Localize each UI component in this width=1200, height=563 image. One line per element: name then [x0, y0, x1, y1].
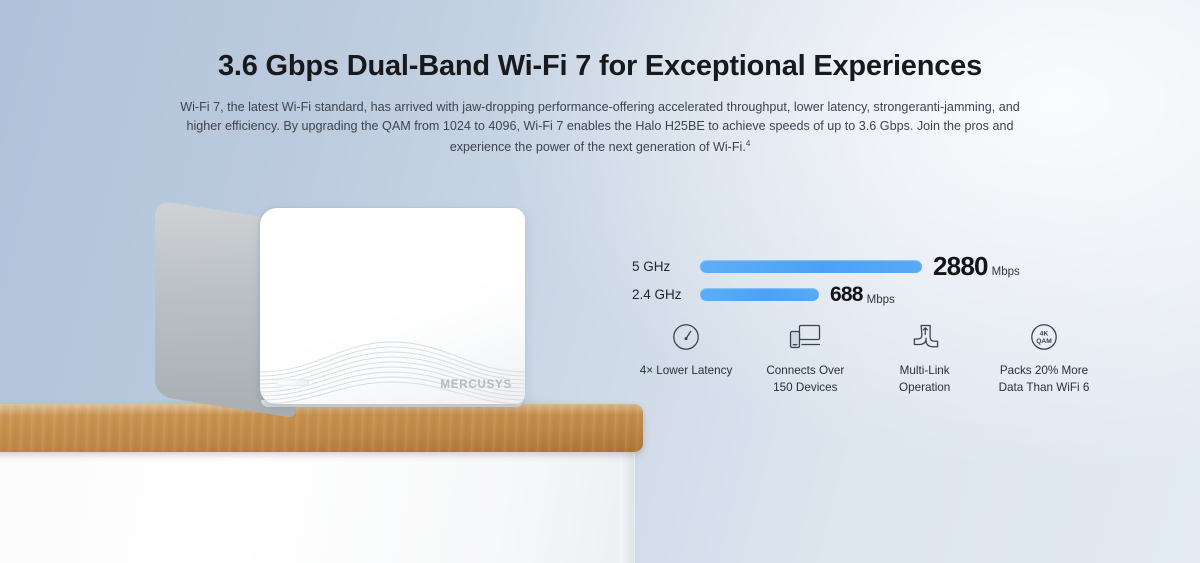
qam-4k-icon: 4K QAM	[988, 320, 1100, 354]
bar-track-24ghz	[700, 288, 819, 301]
band-label-24ghz: 2.4 GHz	[632, 287, 700, 302]
feature-line2: Operation	[899, 381, 950, 394]
speed-chart: 5 GHz 2880 Mbps 2.4 GHz 688 Mbps	[632, 252, 1052, 308]
router-product-image: MERCUSYS	[155, 196, 525, 410]
cabinet-body	[0, 447, 635, 563]
feature-label-multi-link: Multi-Link Operation	[869, 363, 981, 396]
feature-connects-devices: Connects Over 150 Devices	[749, 320, 861, 396]
speed-unit-5ghz: Mbps	[992, 266, 1020, 280]
speed-value-24ghz: 688	[830, 284, 863, 305]
feature-line1: Packs 20% More	[1000, 364, 1088, 377]
feature-line2: Data Than WiFi 6	[999, 381, 1090, 394]
feature-lower-latency: 4× Lower Latency	[630, 320, 742, 396]
feature-label-lower-latency: 4× Lower Latency	[630, 363, 742, 380]
page-title: 3.6 Gbps Dual-Band Wi-Fi 7 for Exception…	[0, 50, 1200, 83]
body-copy-text: Wi-Fi 7, the latest Wi-Fi standard, has …	[180, 100, 1020, 154]
speed-value-5ghz: 2880	[933, 253, 988, 279]
feature-multi-link: Multi-Link Operation	[869, 320, 981, 396]
product-banner: MERCUSYS 3.6 Gbps Dual-Band Wi-Fi 7 for …	[0, 0, 1200, 563]
feature-list: 4× Lower Latency Connects Over 150 Devic…	[630, 320, 1100, 396]
feature-label-4k-qam: Packs 20% More Data Than WiFi 6	[988, 363, 1100, 396]
wooden-shelf	[0, 404, 643, 452]
band-label-5ghz: 5 GHz	[632, 259, 700, 274]
speed-row-24ghz: 2.4 GHz 688 Mbps	[632, 280, 1052, 308]
multi-link-icon	[869, 320, 981, 354]
feature-label-connects-devices: Connects Over 150 Devices	[749, 363, 861, 396]
feature-line2: 150 Devices	[773, 381, 837, 394]
speed-unit-24ghz: Mbps	[867, 294, 895, 308]
bar-track-5ghz	[700, 260, 922, 273]
qam-badge-bottom: QAM	[1036, 338, 1052, 345]
router-front-panel: MERCUSYS	[260, 208, 525, 404]
feature-line1: 4× Lower Latency	[640, 364, 733, 377]
router-wave-texture-icon	[260, 332, 525, 404]
speed-row-5ghz: 5 GHz 2880 Mbps	[632, 252, 1052, 280]
footnote-marker: 4	[746, 139, 750, 148]
latency-gauge-icon	[630, 320, 742, 354]
feature-line1: Multi-Link	[900, 364, 950, 377]
devices-icon	[749, 320, 861, 354]
router-status-led	[276, 379, 309, 386]
bar-fill-5ghz	[700, 260, 922, 273]
feature-4k-qam: 4K QAM Packs 20% More Data Than WiFi 6	[988, 320, 1100, 396]
feature-line1: Connects Over	[766, 364, 844, 377]
qam-badge-top: 4K	[1040, 331, 1049, 338]
router-brand-logo: MERCUSYS	[440, 379, 512, 391]
cabinet-side-edge	[620, 450, 634, 563]
bar-fill-24ghz	[700, 288, 819, 301]
body-copy: Wi-Fi 7, the latest Wi-Fi standard, has …	[175, 98, 1025, 157]
